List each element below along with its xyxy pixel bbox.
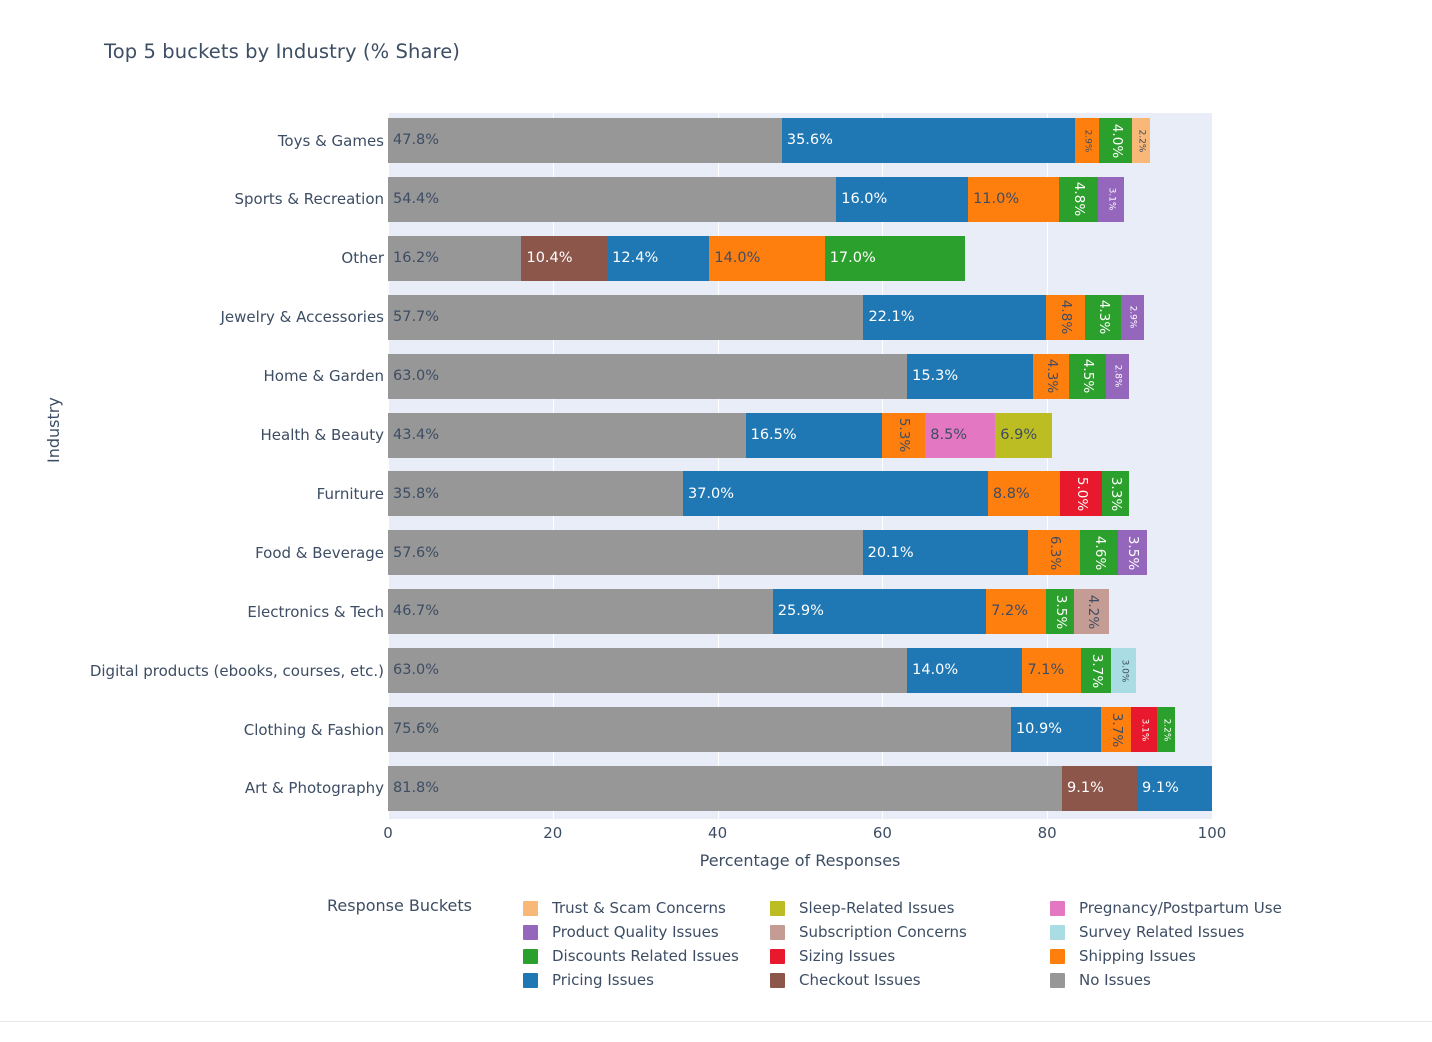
segment-value-label: 35.8% (388, 487, 439, 502)
segment-value-label: 3.5% (1053, 595, 1067, 629)
segment-value-label: 3.1% (1107, 188, 1116, 211)
bar-segment[interactable]: 2.9% (1121, 295, 1145, 340)
page-title: Top 5 buckets by Industry (% Share) (104, 40, 460, 63)
bar-segment[interactable]: 75.6% (388, 707, 1011, 752)
bar-segment[interactable]: 9.1% (1137, 766, 1212, 811)
segment-value-label: 43.4% (388, 428, 439, 443)
bar-segment[interactable]: 7.1% (1022, 648, 1081, 693)
gridline (1212, 113, 1213, 819)
segment-value-label: 3.7% (1089, 653, 1103, 687)
segment-value-label: 22.1% (863, 310, 914, 325)
bar-segment[interactable]: 3.5% (1118, 530, 1147, 575)
legend-swatch-icon (770, 949, 785, 964)
x-axis-title: Percentage of Responses (388, 851, 1212, 870)
bar-segment[interactable]: 3.3% (1102, 471, 1129, 516)
bar-segment[interactable]: 4.6% (1080, 530, 1118, 575)
segment-value-label: 54.4% (388, 192, 439, 207)
stacked-bars: 47.8%35.6%2.9%4.0%2.2%54.4%16.0%11.0%4.8… (388, 113, 1212, 819)
legend-column: Pregnancy/Postpartum UseSurvey Related I… (1050, 896, 1282, 992)
bar-row: 63.0%15.3%4.3%4.5%2.8% (388, 354, 1129, 399)
bar-segment[interactable]: 3.7% (1081, 648, 1111, 693)
bar-row: 43.4%16.5%5.3%8.5%6.9% (388, 413, 1052, 458)
legend-swatch-icon (1050, 949, 1065, 964)
segment-value-label: 35.6% (782, 133, 833, 148)
segment-value-label: 47.8% (388, 133, 439, 148)
bar-segment[interactable]: 3.7% (1101, 707, 1131, 752)
segment-value-label: 25.9% (773, 604, 824, 619)
bar-segment[interactable]: 16.0% (836, 177, 968, 222)
y-axis-tick-label: Digital products (ebooks, courses, etc.) (90, 662, 384, 680)
segment-value-label: 4.8% (1059, 300, 1073, 334)
bar-row: 81.8%9.1%9.1% (388, 766, 1212, 811)
legend-item[interactable]: Product Quality Issues (523, 920, 739, 944)
bar-segment[interactable]: 57.7% (388, 295, 863, 340)
legend-label: Sleep-Related Issues (799, 899, 954, 917)
bar-segment[interactable]: 4.8% (1059, 177, 1099, 222)
y-axis-tick-label: Art & Photography (245, 779, 384, 797)
segment-value-label: 3.3% (1108, 477, 1122, 511)
segment-value-label: 20.1% (863, 546, 914, 561)
legend-label: Trust & Scam Concerns (552, 899, 726, 917)
bar-segment[interactable]: 4.8% (1046, 295, 1086, 340)
segment-value-label: 6.9% (995, 428, 1037, 443)
bar-segment[interactable]: 47.8% (388, 118, 782, 163)
segment-value-label: 2.8% (1113, 365, 1122, 388)
bar-row: 63.0%14.0%7.1%3.7%3.0% (388, 648, 1136, 693)
bar-segment[interactable]: 4.3% (1033, 354, 1068, 399)
segment-value-label: 81.8% (388, 781, 439, 796)
legend-swatch-icon (523, 973, 538, 988)
bar-segment[interactable]: 14.0% (709, 236, 824, 281)
segment-value-label: 4.5% (1080, 359, 1094, 393)
segment-value-label: 4.3% (1096, 300, 1110, 334)
bar-segment[interactable]: 63.0% (388, 354, 907, 399)
legend-item[interactable]: Checkout Issues (770, 968, 967, 992)
segment-value-label: 6.3% (1047, 536, 1061, 570)
segment-value-label: 9.1% (1137, 781, 1179, 796)
bar-row: 46.7%25.9%7.2%3.5%4.2% (388, 589, 1109, 634)
y-axis-tick-label: Electronics & Tech (247, 603, 384, 621)
bar-segment[interactable]: 2.2% (1132, 118, 1150, 163)
bar-segment[interactable]: 17.0% (825, 236, 965, 281)
legend-item[interactable]: No Issues (1050, 968, 1282, 992)
segment-value-label: 3.7% (1109, 712, 1123, 746)
segment-value-label: 75.6% (388, 722, 439, 737)
bar-segment[interactable]: 9.1% (1062, 766, 1137, 811)
bar-segment[interactable]: 54.4% (388, 177, 836, 222)
bar-segment[interactable]: 10.9% (1011, 707, 1101, 752)
bar-segment[interactable]: 2.9% (1075, 118, 1099, 163)
legend-item[interactable]: Sizing Issues (770, 944, 967, 968)
segment-value-label: 10.4% (521, 251, 572, 266)
bar-row: 75.6%10.9%3.7%3.1%2.2% (388, 707, 1175, 752)
legend-swatch-icon (1050, 925, 1065, 940)
bar-segment[interactable]: 22.1% (863, 295, 1045, 340)
bar-segment[interactable]: 46.7% (388, 589, 773, 634)
bar-segment[interactable]: 15.3% (907, 354, 1033, 399)
segment-value-label: 3.1% (1140, 718, 1149, 741)
x-axis-tick-label: 80 (1038, 824, 1057, 842)
bar-segment[interactable]: 35.8% (388, 471, 683, 516)
legend-label: Discounts Related Issues (552, 947, 739, 965)
bar-segment[interactable]: 14.0% (907, 648, 1022, 693)
segment-value-label: 5.3% (897, 418, 911, 452)
y-axis-tick-label: Clothing & Fashion (244, 721, 384, 739)
legend-label: Pricing Issues (552, 971, 654, 989)
segment-value-label: 2.9% (1128, 306, 1137, 329)
legend-swatch-icon (1050, 973, 1065, 988)
segment-value-label: 16.2% (388, 251, 439, 266)
bar-segment[interactable]: 3.1% (1131, 707, 1157, 752)
bar-segment[interactable]: 3.1% (1098, 177, 1124, 222)
bar-segment[interactable]: 2.8% (1106, 354, 1129, 399)
bar-segment[interactable]: 2.2% (1157, 707, 1175, 752)
segment-value-label: 14.0% (709, 251, 760, 266)
bar-segment[interactable]: 4.3% (1085, 295, 1120, 340)
bar-segment[interactable]: 81.8% (388, 766, 1062, 811)
segment-value-label: 12.4% (607, 251, 658, 266)
segment-value-label: 14.0% (907, 663, 958, 678)
segment-value-label: 16.5% (746, 428, 797, 443)
bar-segment[interactable]: 7.2% (986, 589, 1045, 634)
y-axis-tick-label: Sports & Recreation (234, 190, 384, 208)
legend-swatch-icon (770, 925, 785, 940)
bar-segment[interactable]: 4.5% (1069, 354, 1106, 399)
legend-label: Checkout Issues (799, 971, 921, 989)
segment-value-label: 5.0% (1074, 477, 1088, 511)
y-axis-tick-label: Toys & Games (278, 132, 384, 150)
segment-value-label: 46.7% (388, 604, 439, 619)
x-axis-tick-label: 0 (383, 824, 393, 842)
segment-value-label: 8.5% (925, 428, 967, 443)
y-axis-tick-label: Other (341, 249, 384, 267)
legend-swatch-icon (1050, 901, 1065, 916)
segment-value-label: 2.2% (1137, 129, 1146, 152)
legend-swatch-icon (770, 901, 785, 916)
bar-segment[interactable]: 57.6% (388, 530, 863, 575)
bar-segment[interactable]: 37.0% (683, 471, 988, 516)
segment-value-label: 8.8% (988, 487, 1030, 502)
bar-segment[interactable]: 10.4% (521, 236, 607, 281)
segment-value-label: 4.2% (1085, 595, 1099, 629)
legend-item[interactable]: Subscription Concerns (770, 920, 967, 944)
x-axis-tick-label: 60 (873, 824, 892, 842)
x-axis-tick-label: 100 (1198, 824, 1227, 842)
segment-value-label: 7.1% (1022, 663, 1064, 678)
x-axis-tick-label: 40 (708, 824, 727, 842)
segment-value-label: 3.5% (1126, 536, 1140, 570)
legend-item[interactable]: Survey Related Issues (1050, 920, 1282, 944)
legend-swatch-icon (770, 973, 785, 988)
bar-segment[interactable]: 11.0% (968, 177, 1059, 222)
bar-segment[interactable]: 6.3% (1028, 530, 1080, 575)
segment-value-label: 63.0% (388, 663, 439, 678)
bar-segment[interactable]: 3.5% (1046, 589, 1075, 634)
segment-value-label: 2.2% (1161, 718, 1170, 741)
chart-page: Top 5 buckets by Industry (% Share) 47.8… (0, 0, 1432, 1042)
legend-label: Sizing Issues (799, 947, 895, 965)
bar-row: 57.6%20.1%6.3%4.6%3.5% (388, 530, 1147, 575)
segment-value-label: 9.1% (1062, 781, 1104, 796)
y-axis-tick-label: Food & Beverage (255, 544, 384, 562)
legend-item[interactable]: Trust & Scam Concerns (523, 896, 739, 920)
bar-segment[interactable]: 35.6% (782, 118, 1075, 163)
bar-segment[interactable]: 25.9% (773, 589, 986, 634)
bar-segment[interactable]: 8.8% (988, 471, 1061, 516)
legend-label: Subscription Concerns (799, 923, 967, 941)
legend-item[interactable]: Discounts Related Issues (523, 944, 739, 968)
bar-segment[interactable]: 43.4% (388, 413, 746, 458)
segment-value-label: 37.0% (683, 487, 734, 502)
segment-value-label: 57.6% (388, 546, 439, 561)
y-axis-tick-label: Furniture (317, 485, 384, 503)
y-axis-tick-label: Jewelry & Accessories (221, 308, 385, 326)
segment-value-label: 3.0% (1119, 659, 1128, 682)
legend-swatch-icon (523, 949, 538, 964)
bar-segment[interactable]: 12.4% (607, 236, 709, 281)
bar-segment[interactable]: 4.0% (1099, 118, 1132, 163)
y-axis-tick-label: Home & Garden (263, 367, 384, 385)
bar-segment[interactable]: 16.2% (388, 236, 521, 281)
bottom-divider (0, 1021, 1432, 1022)
segment-value-label: 11.0% (968, 192, 1019, 207)
y-axis-title: Industry (44, 397, 63, 463)
segment-value-label: 4.3% (1044, 359, 1058, 393)
segment-value-label: 10.9% (1011, 722, 1062, 737)
segment-value-label: 57.7% (388, 310, 439, 325)
segment-value-label: 17.0% (825, 251, 876, 266)
bar-row: 47.8%35.6%2.9%4.0%2.2% (388, 118, 1150, 163)
y-axis-tick-label: Health & Beauty (261, 426, 384, 444)
legend-label: Survey Related Issues (1079, 923, 1244, 941)
x-axis-tick-label: 20 (543, 824, 562, 842)
segment-value-label: 16.0% (836, 192, 887, 207)
legend-label: Shipping Issues (1079, 947, 1196, 965)
bar-segment[interactable]: 20.1% (863, 530, 1029, 575)
bar-segment[interactable]: 3.0% (1111, 648, 1136, 693)
segment-value-label: 63.0% (388, 369, 439, 384)
legend-swatch-icon (523, 901, 538, 916)
bar-segment[interactable]: 63.0% (388, 648, 907, 693)
bar-row: 16.2%10.4%12.4%14.0%17.0% (388, 236, 965, 281)
segment-value-label: 4.0% (1109, 123, 1123, 157)
segment-value-label: 4.8% (1072, 182, 1086, 216)
segment-value-label: 15.3% (907, 369, 958, 384)
bar-segment[interactable]: 8.5% (925, 413, 995, 458)
legend-label: Product Quality Issues (552, 923, 719, 941)
legend-item[interactable]: Sleep-Related Issues (770, 896, 967, 920)
segment-value-label: 7.2% (986, 604, 1028, 619)
legend-label: Pregnancy/Postpartum Use (1079, 899, 1282, 917)
segment-value-label: 2.9% (1083, 129, 1092, 152)
bar-row: 54.4%16.0%11.0%4.8%3.1% (388, 177, 1124, 222)
bar-segment[interactable]: 4.2% (1074, 589, 1109, 634)
legend-title: Response Buckets (327, 896, 472, 915)
legend-column: Sleep-Related IssuesSubscription Concern… (770, 896, 967, 992)
legend-item[interactable]: Shipping Issues (1050, 944, 1282, 968)
legend-swatch-icon (523, 925, 538, 940)
bar-segment[interactable]: 5.3% (882, 413, 926, 458)
bar-segment[interactable]: 5.0% (1060, 471, 1101, 516)
legend-item[interactable]: Pricing Issues (523, 968, 739, 992)
bar-row: 35.8%37.0%8.8%5.0%3.3% (388, 471, 1129, 516)
bar-row: 57.7%22.1%4.8%4.3%2.9% (388, 295, 1144, 340)
legend-label: No Issues (1079, 971, 1151, 989)
legend-column: Trust & Scam ConcernsProduct Quality Iss… (523, 896, 739, 992)
segment-value-label: 4.6% (1092, 536, 1106, 570)
bar-segment[interactable]: 16.5% (746, 413, 882, 458)
bar-segment[interactable]: 6.9% (995, 413, 1052, 458)
legend-item[interactable]: Pregnancy/Postpartum Use (1050, 896, 1282, 920)
